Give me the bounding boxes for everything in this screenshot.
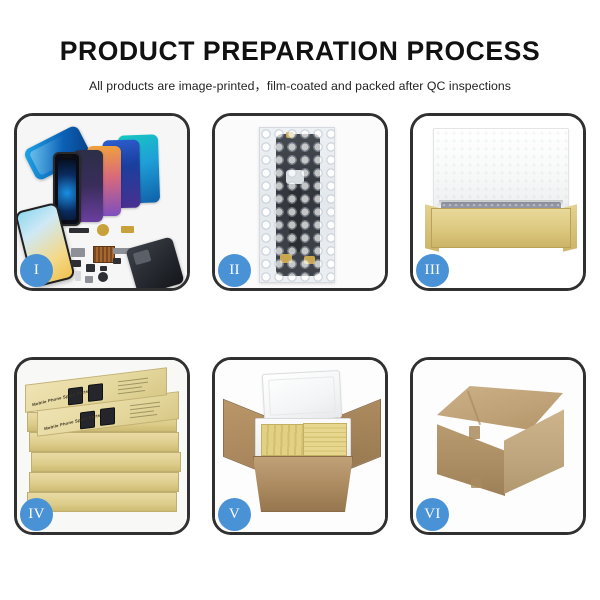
process-step-panel-5[interactable]: V bbox=[212, 357, 388, 535]
step-badge-4: IV bbox=[20, 498, 53, 531]
step-badge-3: III bbox=[416, 254, 449, 287]
bubble-wrap-package-icon bbox=[259, 127, 335, 283]
process-step-panel-3[interactable]: III bbox=[410, 113, 586, 291]
kraft-box-open-icon bbox=[431, 208, 571, 248]
step-badge-2: II bbox=[218, 254, 251, 287]
header: PRODUCT PREPARATION PROCESS All products… bbox=[0, 0, 600, 94]
page-subtitle: All products are image-printed，film-coat… bbox=[0, 67, 600, 94]
process-step-panel-6[interactable]: VI bbox=[410, 357, 586, 535]
page-title: PRODUCT PREPARATION PROCESS bbox=[0, 0, 600, 67]
step-badge-5: V bbox=[218, 498, 251, 531]
circuit-board-icon bbox=[93, 246, 115, 263]
process-step-panel-1[interactable]: I bbox=[14, 113, 190, 291]
process-step-panel-2[interactable]: II bbox=[212, 113, 388, 291]
open-carton-icon bbox=[253, 456, 353, 512]
process-step-panel-4[interactable]: Mobile Phone Spare Parts Mobile Phone Sp… bbox=[14, 357, 190, 535]
yellow-boxes-stack-icon bbox=[303, 423, 347, 456]
repair-parts-cluster bbox=[69, 224, 187, 288]
phone-backplate-icon bbox=[125, 236, 184, 288]
step-badge-6: VI bbox=[416, 498, 449, 531]
process-steps-grid: I II bbox=[14, 113, 586, 535]
product-preparation-infographic: PRODUCT PREPARATION PROCESS All products… bbox=[0, 0, 600, 600]
foam-cooler-lid-icon bbox=[262, 370, 342, 422]
step-badge-1: I bbox=[20, 254, 53, 287]
